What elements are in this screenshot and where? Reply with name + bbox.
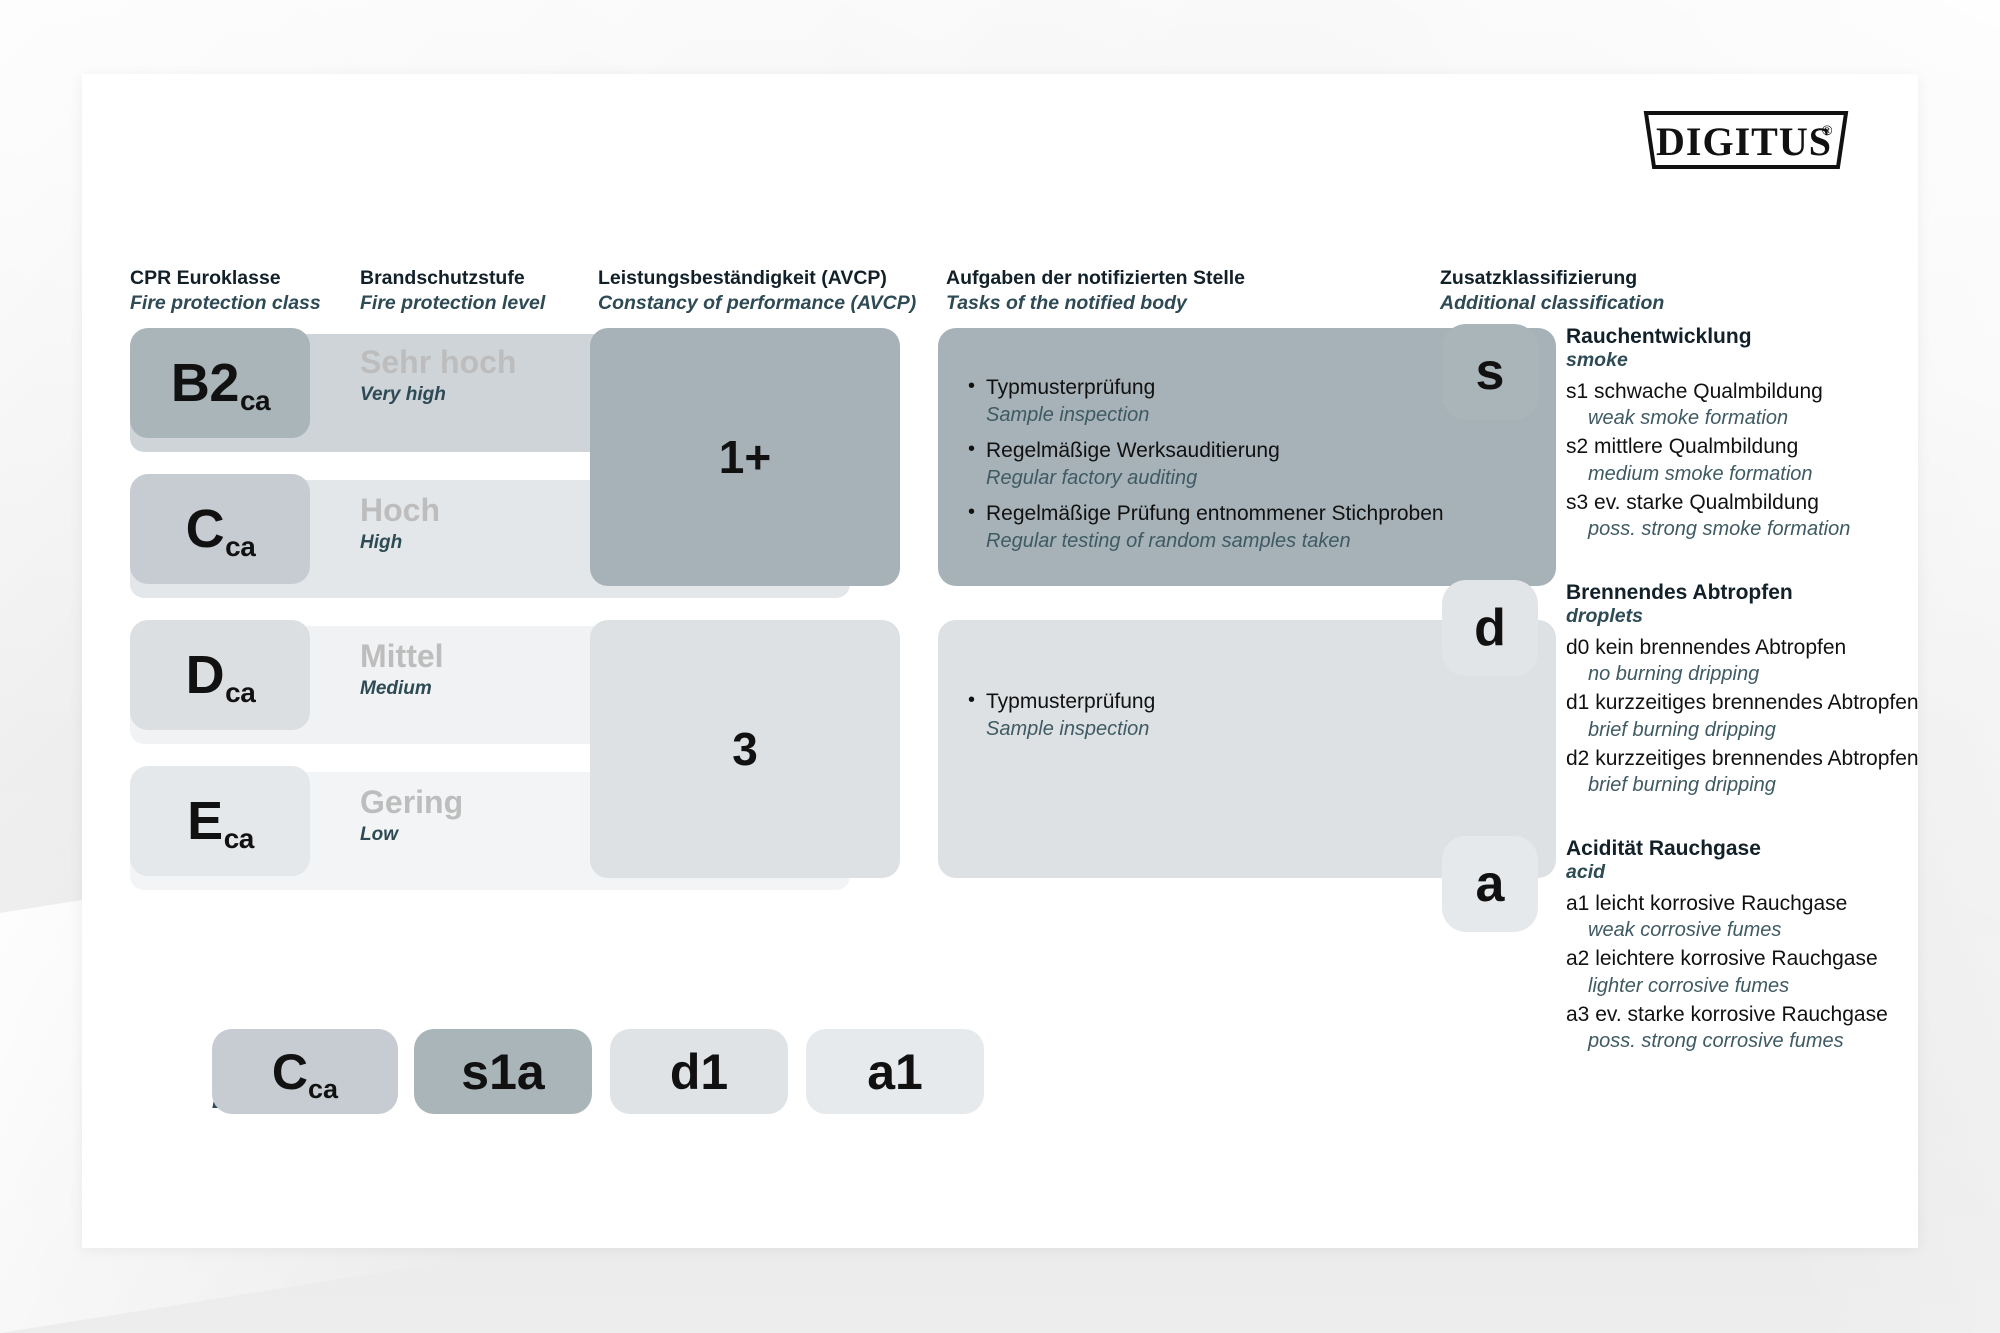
column-header-notified-body: Aufgaben der notifizierten Stelle Tasks …: [946, 266, 1245, 315]
level-en: Low: [360, 824, 463, 846]
registered-mark: ®: [1822, 122, 1833, 138]
header-de: Brandschutzstufe: [360, 266, 545, 291]
group-title-en: acid: [1566, 861, 1888, 884]
badge-letter: d: [1474, 598, 1506, 658]
group-row-en: no burning dripping: [1566, 661, 1919, 688]
class-letter: B2: [171, 353, 239, 413]
group-row-de: a2 leichtere korrosive Rauchgase: [1566, 945, 1888, 973]
group-row-de: a3 ev. starke korrosive Rauchgase: [1566, 1001, 1888, 1029]
task-en: Regular factory auditing: [964, 465, 1530, 492]
column-header-additional-classification: Zusatzklassifizierung Additional classif…: [1440, 266, 1664, 315]
column-header-protection-level: Brandschutzstufe Fire protection level: [360, 266, 545, 315]
class-subscript: ca: [240, 385, 270, 416]
group-title-en: droplets: [1566, 605, 1919, 628]
header-de: CPR Euroklasse: [130, 266, 321, 291]
avcp-box-3[interactable]: 3: [590, 620, 900, 878]
example-chip-smoke[interactable]: s1a: [414, 1029, 592, 1114]
group-body: Acidität Rauchgase acid a1 leicht korros…: [1566, 836, 1888, 1056]
level-en: Very high: [360, 384, 516, 406]
task-de: Typmusterprüfung: [964, 688, 1530, 716]
class-tile-cca[interactable]: Cca: [130, 474, 310, 584]
badge-letter: a: [1476, 854, 1505, 914]
level-de: Sehr hoch: [360, 346, 516, 380]
example-chip-droplets[interactable]: d1: [610, 1029, 788, 1114]
group-row-en: brief burning dripping: [1566, 717, 1919, 744]
group-row-en: weak corrosive fumes: [1566, 917, 1888, 944]
example-chip-acid[interactable]: a1: [806, 1029, 984, 1114]
avcp-value: 3: [732, 722, 758, 776]
task-item: Regelmäßige Werksauditierung Regular fac…: [964, 437, 1530, 492]
group-row-en: lighter corrosive fumes: [1566, 973, 1888, 1000]
task-en: Sample inspection: [964, 716, 1530, 743]
badge-letter: s: [1476, 342, 1505, 402]
group-row-de: d1 kurzzeitiges brennendes Abtropfen: [1566, 689, 1919, 717]
level-en: Medium: [360, 678, 444, 700]
badge-d[interactable]: d: [1442, 580, 1538, 676]
example-chip-text: Cca: [272, 1043, 338, 1101]
digitus-logo: DIGITUS ®: [1640, 109, 1852, 171]
group-title-de: Brennendes Abtropfen: [1566, 580, 1919, 605]
group-title-de: Rauchentwicklung: [1566, 324, 1850, 349]
example-chip-text: s1a: [461, 1043, 544, 1101]
class-letter: E: [187, 791, 223, 851]
header-en: Fire protection class: [130, 291, 321, 316]
example-chip-text: d1: [670, 1043, 728, 1101]
group-row-en: poss. strong corrosive fumes: [1566, 1028, 1888, 1055]
badge-a[interactable]: a: [1442, 836, 1538, 932]
group-row-de: s3 ev. starke Qualmbildung: [1566, 489, 1850, 517]
class-label: Cca: [186, 498, 255, 560]
chip-sub: ca: [308, 1074, 338, 1104]
group-body: Rauchentwicklung smoke s1 schwache Qualm…: [1566, 324, 1850, 544]
group-row-en: brief burning dripping: [1566, 772, 1919, 799]
column-header-avcp: Leistungsbeständigkeit (AVCP) Constancy …: [598, 266, 916, 315]
class-label: Dca: [186, 644, 255, 706]
level-de: Mittel: [360, 640, 444, 674]
level-eca: Gering Low: [360, 786, 463, 846]
example-chip-class[interactable]: Cca: [212, 1029, 398, 1114]
header-en: Tasks of the notified body: [946, 291, 1245, 316]
group-title-de: Acidität Rauchgase: [1566, 836, 1888, 861]
avcp-box-1plus[interactable]: 1+: [590, 328, 900, 586]
class-label: Eca: [187, 790, 253, 852]
header-de: Zusatzklassifizierung: [1440, 266, 1664, 291]
group-row-de: a1 leicht korrosive Rauchgase: [1566, 890, 1888, 918]
class-tile-dca[interactable]: Dca: [130, 620, 310, 730]
group-title-en: smoke: [1566, 349, 1850, 372]
class-letter: D: [186, 645, 225, 705]
header-en: Additional classification: [1440, 291, 1664, 316]
avcp-value: 1+: [719, 430, 771, 484]
level-de: Gering: [360, 786, 463, 820]
header-en: Fire protection level: [360, 291, 545, 316]
group-row-de: d0 kein brennendes Abtropfen: [1566, 634, 1919, 662]
class-subscript: ca: [225, 677, 255, 708]
task-de: Regelmäßige Prüfung entnommener Stichpro…: [964, 500, 1530, 528]
class-tile-eca[interactable]: Eca: [130, 766, 310, 876]
level-en: High: [360, 532, 440, 554]
task-item: Typmusterprüfung Sample inspection: [964, 688, 1530, 743]
header-de: Leistungsbeständigkeit (AVCP): [598, 266, 916, 291]
group-row-en: medium smoke formation: [1566, 461, 1850, 488]
group-body: Brennendes Abtropfen droplets d0 kein br…: [1566, 580, 1919, 800]
group-row-en: weak smoke formation: [1566, 405, 1850, 432]
badge-s[interactable]: s: [1442, 324, 1538, 420]
class-label: B2ca: [171, 352, 269, 414]
class-subscript: ca: [224, 823, 254, 854]
level-de: Hoch: [360, 494, 440, 528]
class-letter: C: [186, 499, 225, 559]
logo-wordmark: DIGITUS: [1656, 119, 1832, 164]
group-row-en: poss. strong smoke formation: [1566, 516, 1850, 543]
task-item: Regelmäßige Prüfung entnommener Stichpro…: [964, 500, 1530, 555]
group-row-de: d2 kurzzeitiges brennendes Abtropfen: [1566, 745, 1919, 773]
group-row-de: s2 mittlere Qualmbildung: [1566, 433, 1850, 461]
column-header-cpr-class: CPR Euroklasse Fire protection class: [130, 266, 321, 315]
header-en: Constancy of performance (AVCP): [598, 291, 916, 316]
class-tile-b2ca[interactable]: B2ca: [130, 328, 310, 438]
task-en: Regular testing of random samples taken: [964, 528, 1530, 555]
class-subscript: ca: [225, 531, 255, 562]
group-row-de: s1 schwache Qualmbildung: [1566, 378, 1850, 406]
task-de: Regelmäßige Werksauditierung: [964, 437, 1530, 465]
level-cca: Hoch High: [360, 494, 440, 554]
chip-main: C: [272, 1044, 308, 1100]
header-de: Aufgaben der notifizierten Stelle: [946, 266, 1245, 291]
example-chip-text: a1: [867, 1043, 923, 1101]
level-dca: Mittel Medium: [360, 640, 444, 700]
infographic-card: DIGITUS ® CPR Euroklasse Fire protection…: [82, 74, 1918, 1248]
level-b2ca: Sehr hoch Very high: [360, 346, 516, 406]
